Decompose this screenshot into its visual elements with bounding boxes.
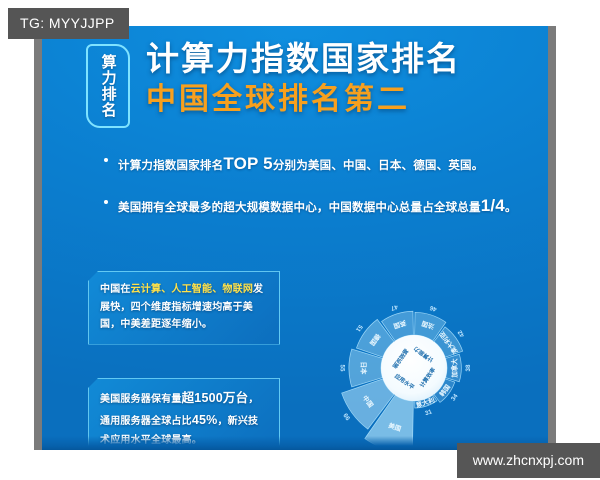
infographic-poster: 算力排名 计算力指数国家排名 中国全球排名第二 计算力指数国家排名TOP 5分别… xyxy=(42,26,548,450)
bullet-item: 美国拥有全球最多的超大规模数据中心，中国数据中心总量占全球总量1/4。 xyxy=(104,194,524,218)
ranking-badge: 算力排名 xyxy=(86,44,130,128)
page-subtitle: 中国全球排名第二 xyxy=(146,80,538,119)
page-title: 计算力指数国家排名 xyxy=(146,38,538,79)
card2-text-5: 用水平全球最高。 xyxy=(120,435,202,446)
title-block: 计算力指数国家排名 中国全球排名第二 xyxy=(146,38,538,119)
rose-segment-value: 55 xyxy=(338,365,345,372)
card1-text-1: 中国在 xyxy=(100,284,131,295)
card1-highlight-1: 云计算、人工智能、物联 xyxy=(131,284,243,295)
card2-text-1: 美国服务器保有量 xyxy=(100,394,182,405)
card2-highlight-1: 超1500万台 xyxy=(182,391,249,405)
rose-segment-value: 34 xyxy=(450,392,460,402)
radial-rose-chart: 计算能力计算效率应用水平基础设施 美国75中国66日本55德国51英国47法国4… xyxy=(280,248,548,450)
bullet-1-emphasis: TOP 5 xyxy=(223,154,273,173)
bullet-1-post: 分别为美国、中国、日本、德国、英国。 xyxy=(273,160,484,172)
bullet-item: 计算力指数国家排名TOP 5分别为美国、中国、日本、德国、英国。 xyxy=(104,152,524,176)
rose-segment-value: 42 xyxy=(456,328,466,338)
rose-segment-value: 46 xyxy=(429,304,438,313)
watermark-overlay: www.zhcnxpj.com xyxy=(457,443,600,478)
card-us-servers: 美国服务器保有量超1500万台，通用服务器全球占比45%，新兴技术应用水平全球最… xyxy=(88,378,280,450)
rose-hub xyxy=(381,335,447,401)
bullet-1-pre: 计算力指数国家排名 xyxy=(118,160,223,172)
bullet-2-emphasis: 1/4 xyxy=(481,196,505,215)
rose-chart-svg: 计算能力计算效率应用水平基础设施 美国75中国66日本55德国51英国47法国4… xyxy=(280,248,548,450)
card2-highlight-2: 45% xyxy=(192,413,218,427)
screenshot-root: 算力排名 计算力指数国家排名 中国全球排名第二 计算力指数国家排名TOP 5分别… xyxy=(0,0,600,480)
rose-segment-value: 51 xyxy=(354,323,364,333)
card1-text-3: 国，中美差距逐年缩小。 xyxy=(100,319,212,330)
bullet-list: 计算力指数国家排名TOP 5分别为美国、中国、日本、德国、英国。 美国拥有全球最… xyxy=(104,152,524,236)
card1-highlight-2: 网 xyxy=(243,284,253,295)
rose-segment-value: 31 xyxy=(424,408,433,417)
rose-segment-label: 加拿大 xyxy=(450,358,459,379)
rose-segment-label: 日本 xyxy=(359,362,368,375)
tg-tag-overlay: TG: MYYJJPP xyxy=(8,8,129,39)
card-china-growth: 中国在云计算、人工智能、物联网发展快，四个维度指标增速均高于美国，中美差距逐年缩… xyxy=(88,271,280,345)
rose-segment-value: 66 xyxy=(341,412,351,422)
rose-segment-value: 38 xyxy=(465,364,472,371)
card2-text-3: 用服务器全球占比 xyxy=(110,416,192,427)
rose-segment-value: 47 xyxy=(389,303,398,312)
poster-header: 算力排名 计算力指数国家排名 中国全球排名第二 xyxy=(42,36,548,146)
ranking-badge-label: 算力排名 xyxy=(99,54,116,118)
bullet-2-pre: 美国拥有全球最多的超大规模数据中心，中国数据中心总量占全球总量 xyxy=(118,202,481,214)
bullet-2-post: 。 xyxy=(505,202,517,214)
